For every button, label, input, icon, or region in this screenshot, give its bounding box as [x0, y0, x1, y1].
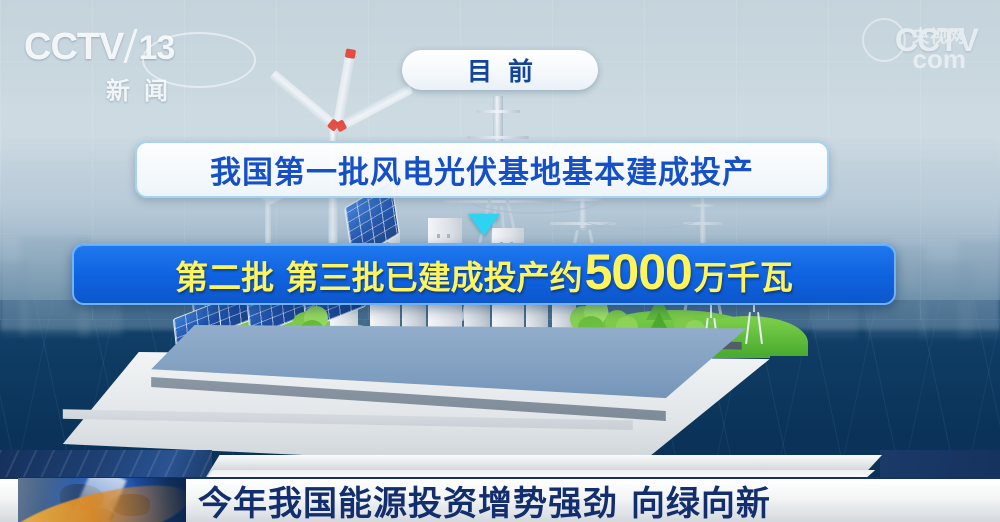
watermark-circle-icon [862, 18, 906, 62]
status-pill: 目前 [402, 50, 598, 90]
blue-banner-text: 第二批 第三批已建成投产约5000万千瓦 [175, 249, 793, 299]
ticker-right-accent [880, 450, 1000, 480]
banner-unit: 万千瓦 [694, 251, 793, 299]
headline-box: 我国第一批风电光伏基地基本建成投产 [135, 141, 829, 198]
blue-banner: 第二批 第三批已建成投产约5000万千瓦 [72, 243, 896, 305]
globe-icon [18, 478, 186, 522]
broadcast-screen: CCTV13 新闻 CCTV 央视网 com 目前 我国第一批风电光伏基地基本建… [0, 0, 1000, 522]
ticker-headline: 今年我国能源投资增势强劲 向绿向新 [198, 478, 771, 522]
logo-slash [124, 29, 138, 63]
watermark-domain: com [913, 44, 966, 75]
logo-brand-text: CCTV [24, 26, 123, 68]
status-pill-label: 目前 [451, 52, 549, 88]
down-triangle-icon [468, 214, 500, 236]
cctv13-logo: CCTV13 新闻 [24, 26, 264, 98]
banner-number: 5000 [585, 249, 692, 297]
banner-prefix: 第二批 第三批已建成投产约 [175, 251, 583, 299]
headline-text: 我国第一批风电光伏基地基本建成投产 [210, 147, 754, 192]
cctv-com-watermark: CCTV 央视网 com [895, 22, 978, 72]
ticker-left-accent [0, 450, 212, 480]
logo-ellipse [142, 32, 256, 88]
